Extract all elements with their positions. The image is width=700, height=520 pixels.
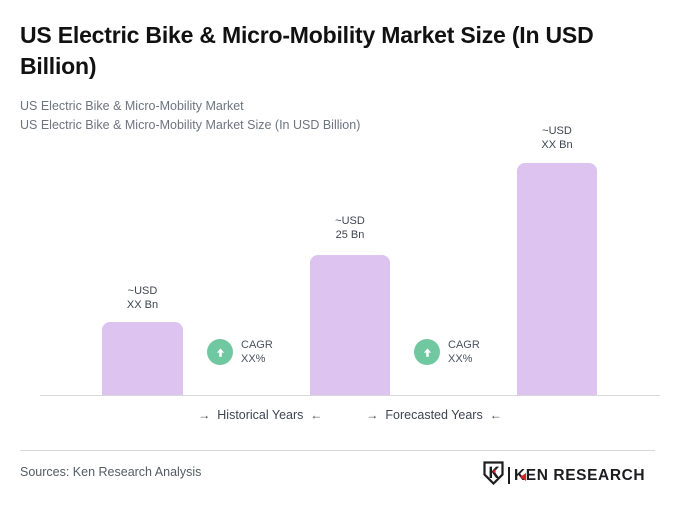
bar-value-line-1: ~USD [310, 214, 390, 228]
chart-page: US Electric Bike & Micro-Mobility Market… [0, 0, 700, 520]
bar-value-label: ~USD XX Bn [517, 124, 597, 152]
axis-caption-historical: → Historical Years ← [198, 408, 322, 422]
logo-accent-wedge [520, 473, 526, 481]
cagr-value-1: XX% [241, 352, 273, 366]
arrow-left-icon: ← [310, 408, 322, 422]
bar-value-line-1: ~USD [102, 284, 183, 298]
arrow-right-icon: → [366, 408, 378, 422]
bar-forecasted[interactable] [517, 163, 597, 395]
logo-separator [508, 467, 510, 484]
cagr-badge-2[interactable]: CAGR XX% [414, 338, 480, 366]
bar-value-line-1: ~USD [517, 124, 597, 138]
bar-value-line-2: XX Bn [517, 138, 597, 152]
bar-historical[interactable] [102, 322, 183, 395]
axis-captions: → Historical Years ← → Forecasted Years … [0, 408, 700, 422]
bar-value-line-2: 25 Bn [310, 228, 390, 242]
arrow-up-icon [414, 339, 440, 365]
axis-caption-forecasted: → Forecasted Years ← [366, 408, 501, 422]
bar-value-line-2: XX Bn [102, 298, 183, 312]
arrow-up-icon [207, 339, 233, 365]
arrow-right-icon: → [198, 408, 210, 422]
cagr-value-2: XX% [448, 352, 480, 366]
axis-label-forecasted: Forecasted Years [385, 408, 482, 422]
bar-chart-plot: ~USD XX Bn CAGR XX% ~USD 25 Bn [0, 0, 700, 420]
bar-value-label: ~USD XX Bn [102, 284, 183, 312]
arrow-left-icon: ← [490, 408, 502, 422]
logo-wordmark-text: KEN RESEARCH [514, 467, 645, 484]
ken-research-shield-icon [483, 461, 504, 490]
cagr-text-2: CAGR XX% [448, 338, 480, 366]
bar-value-label: ~USD 25 Bn [310, 214, 390, 242]
chart-baseline [40, 395, 660, 396]
cagr-label-2: CAGR [448, 338, 480, 352]
footer-divider [20, 450, 655, 451]
sources-text: Sources: Ken Research Analysis [20, 465, 201, 479]
cagr-text-1: CAGR XX% [241, 338, 273, 366]
ken-research-logo: KEN RESEARCH [483, 461, 645, 490]
logo-wordmark: KEN RESEARCH [514, 467, 645, 485]
cagr-badge-1[interactable]: CAGR XX% [207, 338, 273, 366]
bar-current[interactable] [310, 255, 390, 395]
cagr-label-1: CAGR [241, 338, 273, 352]
axis-label-historical: Historical Years [217, 408, 303, 422]
